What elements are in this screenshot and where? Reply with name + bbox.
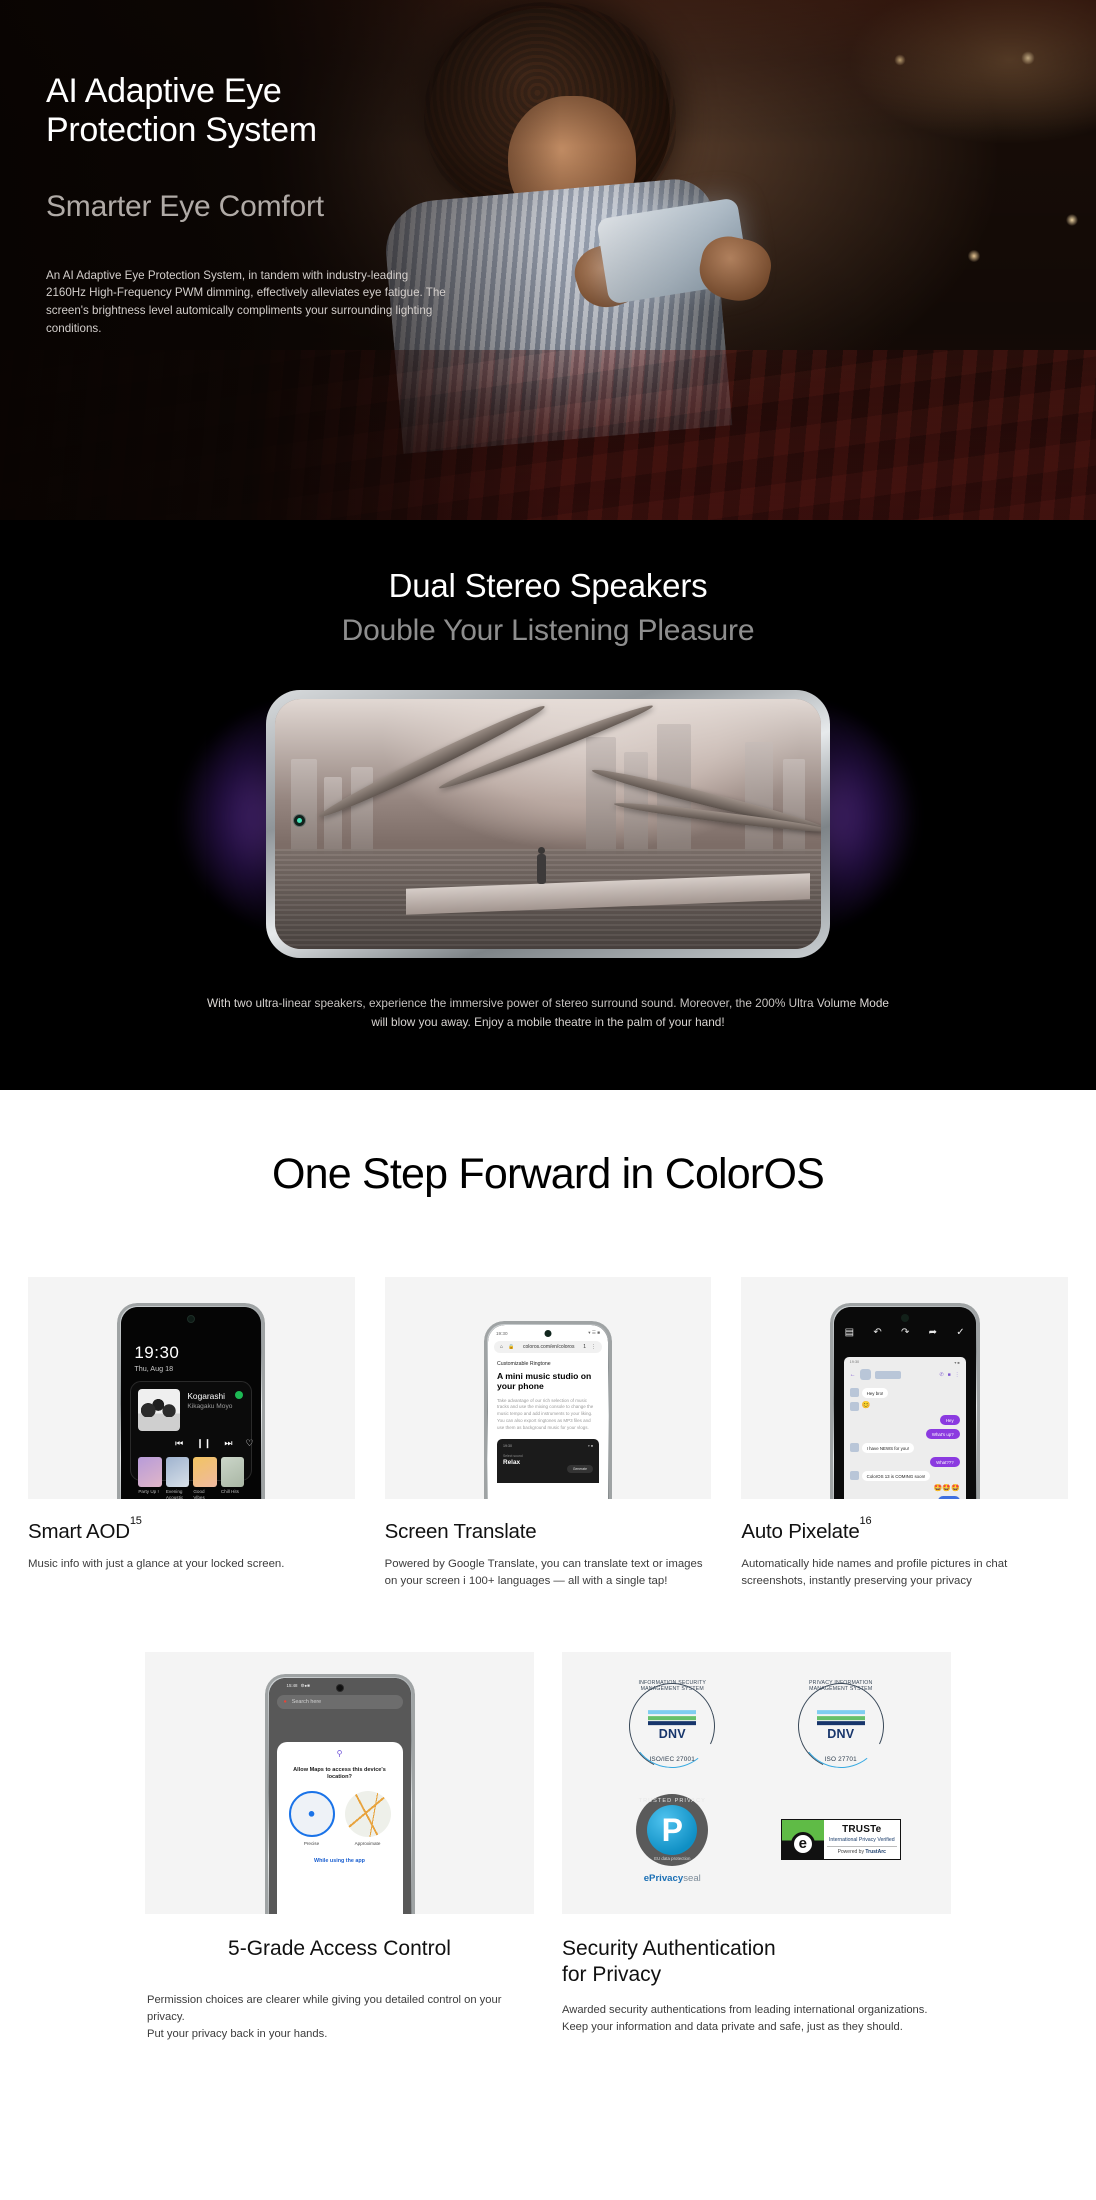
redo-icon[interactable]: ↷ — [901, 1327, 909, 1338]
option-precise[interactable]: ● Precise — [289, 1791, 335, 1846]
permission-dialog[interactable]: ⚲ Allow Maps to access this device's loc… — [277, 1742, 403, 1914]
phone-display: ▤ ↶ ↷ ➦ ✓ 19:30 ▾ ■ — [834, 1307, 976, 1499]
status-icons: ⚙●■ — [301, 1683, 310, 1689]
video-call-icon[interactable]: ■ — [948, 1372, 951, 1378]
smart-aod-media: 19:30 Thu, Aug 18 Kogarashi Kikagaku Moy… — [28, 1277, 355, 1499]
auto-pixelate-media: ▤ ↶ ↷ ➦ ✓ 19:30 ▾ ■ — [741, 1277, 1068, 1499]
dual-stereo-speakers-section: Dual Stereo Speakers Double Your Listeni… — [0, 520, 1096, 1090]
embedded-label: Select sound — [503, 1454, 593, 1458]
playback-controls[interactable]: ⏮ ❙❙ ⏭ ♡ — [138, 1438, 244, 1449]
game-building — [351, 767, 373, 855]
hero-title-line-2: Protection System — [46, 111, 317, 149]
message-bubble: I have NEWS for you! — [862, 1443, 914, 1453]
truste-powered-by: Powered by TrustArc — [827, 1846, 897, 1855]
lock-icon: 🔒 — [508, 1344, 514, 1350]
pixelated-avatar — [860, 1369, 871, 1380]
maps-permission-phone-mockup: 15:48 ⚙●■ ● Search here ⚲ Allow Maps to … — [265, 1674, 415, 1914]
badge-dnv-iso27001: INFORMATION SECURITY MANAGEMENT SYSTEM D… — [626, 1683, 718, 1769]
message-emoji: 😊 — [862, 1402, 871, 1409]
page-paragraph: Take advantage of our rich selection of … — [497, 1398, 599, 1432]
punch-hole-camera-icon — [187, 1315, 195, 1323]
smart-aod-phone-mockup: 19:30 Thu, Aug 18 Kogarashi Kikagaku Moy… — [117, 1303, 265, 1499]
game-building — [291, 759, 317, 854]
pause-icon[interactable]: ❙❙ — [196, 1438, 211, 1449]
page-headline: A mini music studio on your phone — [497, 1371, 599, 1392]
page-kicker: Customizable Ringtone — [497, 1361, 599, 1367]
pixelated-contact-name — [875, 1371, 901, 1379]
playlist-tiles[interactable]: Party Up ! Evening Acoustic Good Vibes — [138, 1457, 244, 1499]
phone-display: 15:48 ⚙●■ ● Search here ⚲ Allow Maps to … — [269, 1678, 411, 1914]
punch-hole-camera-icon — [336, 1684, 344, 1692]
permission-question: Allow Maps to access this device's locat… — [285, 1767, 395, 1782]
feature-card-auto-pixelate[interactable]: ▤ ↶ ↷ ➦ ✓ 19:30 ▾ ■ — [741, 1277, 1068, 1590]
dnv-standard: ISO 27701 — [798, 1756, 884, 1763]
message-bubble: ColorOS 13 is COMING soon! — [862, 1471, 931, 1481]
message-bubble: Hey bro! — [862, 1388, 889, 1398]
dnv-ring-text: PRIVACY INFORMATION MANAGEMENT SYSTEM — [798, 1680, 884, 1692]
playlist-label: Chill Hits — [221, 1489, 245, 1495]
heart-icon[interactable]: ♡ — [245, 1438, 253, 1449]
speakers-title: Dual Stereo Speakers — [0, 520, 1096, 605]
panel-security-authentication[interactable]: INFORMATION SECURITY MANAGEMENT SYSTEM D… — [562, 1652, 951, 2043]
more-options-icon[interactable]: ⋮ — [591, 1344, 596, 1350]
dnv-ring: PRIVACY INFORMATION MANAGEMENT SYSTEM DN… — [798, 1683, 884, 1769]
undo-icon[interactable]: ↶ — [873, 1327, 881, 1338]
screen-translate-media: 19:30 ▾ ☰ ■ ⌂ 🔒 coloros.com/en/coloros 1… — [385, 1277, 712, 1499]
maps-search-bar[interactable]: ● Search here — [277, 1695, 403, 1709]
maps-screen: 15:48 ⚙●■ ● Search here ⚲ Allow Maps to … — [269, 1678, 411, 1914]
speakers-subtitle: Double Your Listening Pleasure — [0, 614, 1096, 648]
dnv-ring: INFORMATION SECURITY MANAGEMENT SYSTEM D… — [629, 1683, 715, 1769]
badge-truste: e TRUSTe International Privacy Verified … — [781, 1819, 901, 1860]
hero-title-line-1: AI Adaptive Eye — [46, 72, 282, 110]
truste-subtitle: International Privacy Verified — [827, 1837, 897, 1843]
eprivacy-caption-bold: ePrivacy — [644, 1873, 683, 1884]
status-time: 19:30 — [496, 1331, 508, 1336]
browser-screen: 19:30 ▾ ☰ ■ ⌂ 🔒 coloros.com/en/coloros 1… — [488, 1325, 608, 1499]
truste-text-block: TRUSTe International Privacy Verified Po… — [824, 1820, 900, 1859]
embedded-status: 19:30▾ ■ — [503, 1444, 593, 1448]
panel-heading: 5-Grade Access Control — [145, 1936, 534, 1962]
punch-hole-camera-icon — [901, 1314, 909, 1322]
crop-icon[interactable]: ▤ — [845, 1327, 854, 1338]
dnv-bars-icon — [817, 1710, 865, 1725]
eprivacy-ring: TRUSTED PRIVACY P EU data protection — [636, 1794, 708, 1866]
chat-message-row: 🤩🤩🤩 — [850, 1485, 960, 1492]
back-icon[interactable]: ← — [850, 1372, 856, 1378]
card-heading: Auto Pixelate16 — [741, 1520, 1068, 1544]
album-art — [138, 1389, 180, 1431]
status-icons: ▾ ☰ ■ — [588, 1330, 600, 1336]
hero-copy-block: AI Adaptive Eye Protection System Smarte… — [46, 72, 516, 337]
address-url[interactable]: coloros.com/en/coloros — [519, 1344, 578, 1350]
page-content: Customizable Ringtone A mini music studi… — [488, 1353, 608, 1431]
punch-hole-camera-icon — [545, 1330, 552, 1337]
phone-display: 19:30 ▾ ☰ ■ ⌂ 🔒 coloros.com/en/coloros 1… — [488, 1325, 608, 1499]
chat-message-row: ColorOS 13 is COMING soon! — [850, 1471, 960, 1481]
dnv-core: DNV — [648, 1710, 696, 1741]
hero-subtitle: Smarter Eye Comfort — [46, 189, 516, 225]
eprivacy-caption-rest: seal — [683, 1873, 701, 1884]
approximate-location-preview — [345, 1791, 391, 1837]
chat-messages: Hey bro! 😊 Hey — [844, 1384, 966, 1499]
card-footnote-marker: 15 — [130, 1515, 142, 1527]
speakers-description: With two ultra-linear speakers, experien… — [198, 994, 898, 1032]
aod-music-widget[interactable]: Kogarashi Kikagaku Moyo ⏮ ❙❙ ⏭ ♡ — [130, 1381, 252, 1481]
next-track-icon[interactable]: ⏭ — [224, 1438, 232, 1449]
eprivacy-caption: ePrivacyseal — [636, 1873, 708, 1884]
eprivacy-bottom-text: EU data protection — [636, 1856, 708, 1861]
panel-description: Awarded security authentications from le… — [562, 2002, 951, 2036]
landscape-phone-mockup — [266, 690, 830, 958]
playlist-thumb — [138, 1457, 162, 1487]
access-control-media: 15:48 ⚙●■ ● Search here ⚲ Allow Maps to … — [145, 1652, 534, 1914]
truste-name: TRUSTe — [827, 1824, 897, 1835]
card-heading: Smart AOD15 — [28, 1520, 355, 1544]
game-building — [586, 737, 616, 855]
dnv-wordmark: DNV — [817, 1727, 865, 1741]
message-bubble: Hey — [940, 1415, 960, 1425]
panel-heading-line-1: Security Authentication — [562, 1937, 776, 1960]
share-icon[interactable]: ➦ — [929, 1327, 937, 1338]
home-icon[interactable]: ⌂ — [500, 1344, 503, 1350]
editor-toolbar[interactable]: ▤ ↶ ↷ ➦ ✓ — [834, 1307, 976, 1338]
playlist-thumb — [221, 1457, 245, 1487]
coloros-privacy-grid: 15:48 ⚙●■ ● Search here ⚲ Allow Maps to … — [0, 1652, 1096, 2043]
tab-count-icon[interactable]: 1 — [583, 1344, 586, 1350]
playlist-thumb — [166, 1457, 190, 1487]
dnv-ring-text: INFORMATION SECURITY MANAGEMENT SYSTEM — [629, 1680, 715, 1692]
message-bubble: Wow — [938, 1496, 960, 1499]
pixelated-avatar — [850, 1443, 859, 1452]
eye-protection-hero-section: AI Adaptive Eye Protection System Smarte… — [0, 0, 1096, 520]
pixelated-avatar — [850, 1388, 859, 1397]
map-roads — [345, 1791, 391, 1837]
chat-header: ← ✆ ■ ⋮ — [844, 1365, 966, 1384]
speakers-device-stage — [0, 672, 1096, 972]
playlist-label: Party Up ! — [138, 1489, 162, 1495]
message-bubble: What's up? — [926, 1429, 960, 1439]
playlist-thumb — [193, 1457, 217, 1487]
feature-card-screen-translate[interactable]: 19:30 ▾ ☰ ■ ⌂ 🔒 coloros.com/en/coloros 1… — [385, 1277, 712, 1590]
playlist-tile[interactable]: Good Vibes — [193, 1457, 217, 1499]
truste-mark: e — [782, 1820, 824, 1859]
option-label: Precise — [289, 1841, 335, 1846]
game-character — [537, 854, 546, 884]
map-pin-icon: ● — [308, 1805, 316, 1820]
card-description: Powered by Google Translate, you can tra… — [385, 1556, 712, 1590]
card-description: Music info with just a glance at your lo… — [28, 1556, 355, 1573]
panel-access-control[interactable]: 15:48 ⚙●■ ● Search here ⚲ Allow Maps to … — [145, 1652, 534, 2043]
playlist-tile[interactable]: Evening Acoustic — [166, 1457, 190, 1499]
playlist-label: Evening Acoustic — [166, 1489, 190, 1499]
call-icon[interactable]: ✆ — [939, 1372, 943, 1378]
chat-status-icons: ▾ ■ — [954, 1360, 959, 1365]
hero-title: AI Adaptive Eye Protection System — [46, 72, 516, 151]
maps-pin-icon: ● — [284, 1699, 287, 1705]
chat-message-row: Hey — [850, 1415, 960, 1425]
while-using-app-button[interactable]: While using the app — [285, 1858, 395, 1864]
dnv-wordmark: DNV — [648, 1727, 696, 1741]
panel-heading: Security Authentication for Privacy — [562, 1936, 951, 1989]
chat-status-bar: 19:30 ▾ ■ — [844, 1357, 966, 1365]
dnv-core: DNV — [817, 1710, 865, 1741]
playlist-tile[interactable]: Chill Hits — [221, 1457, 245, 1499]
browser-address-bar[interactable]: ⌂ 🔒 coloros.com/en/coloros 1 ⋮ — [494, 1341, 602, 1353]
chat-message-row: Wow — [850, 1496, 960, 1499]
card-heading-text: Auto Pixelate — [741, 1520, 859, 1543]
front-camera-icon — [293, 814, 306, 827]
precise-location-preview: ● — [289, 1791, 335, 1837]
eprivacy-p-icon: P — [647, 1805, 697, 1855]
pixelated-avatar — [850, 1471, 859, 1480]
chat-message-row: Hey bro! — [850, 1388, 960, 1398]
dnv-bars-icon — [648, 1710, 696, 1725]
option-approximate[interactable]: Approximate — [345, 1791, 391, 1846]
track-artist: Kikagaku Moyo — [187, 1403, 244, 1410]
embedded-player-card[interactable]: 19:30▾ ■ Select sound Relax Generate — [497, 1439, 599, 1483]
certification-badge-grid: INFORMATION SECURITY MANAGEMENT SYSTEM D… — [562, 1652, 951, 1914]
truste-e-icon: e — [791, 1832, 815, 1856]
card-description: Automatically hide names and profile pic… — [741, 1556, 1068, 1590]
chat-menu-icon[interactable]: ⋮ — [955, 1372, 960, 1378]
eprivacy-top-text: TRUSTED PRIVACY — [636, 1798, 708, 1804]
coloros-title: One Step Forward in ColorOS — [0, 1150, 1096, 1199]
permission-options[interactable]: ● Precise Approximate — [285, 1791, 395, 1846]
playlist-tile[interactable]: Party Up ! — [138, 1457, 162, 1499]
truste-powered-brand: TrustArc — [865, 1849, 886, 1855]
message-emoji: 🤩🤩🤩 — [934, 1485, 960, 1492]
feature-card-smart-aod[interactable]: 19:30 Thu, Aug 18 Kogarashi Kikagaku Moy… — [28, 1277, 355, 1590]
chat-status-time: 19:30 — [850, 1360, 860, 1365]
truste-powered-prefix: Powered by — [838, 1849, 866, 1855]
chat-message-row: What's up? — [850, 1429, 960, 1439]
always-on-display: 19:30 Thu, Aug 18 Kogarashi Kikagaku Moy… — [121, 1307, 261, 1499]
chat-screenshot: 19:30 ▾ ■ ← ✆ ■ ⋮ — [844, 1357, 966, 1499]
dnv-standard: ISO/IEC 27001 — [629, 1756, 715, 1763]
message-bubble: What??? — [930, 1457, 960, 1467]
pixelated-avatar — [850, 1402, 859, 1411]
auto-pixelate-phone-mockup: ▤ ↶ ↷ ➦ ✓ 19:30 ▾ ■ — [830, 1303, 980, 1499]
check-icon[interactable]: ✓ — [956, 1327, 964, 1338]
game-building — [745, 742, 773, 855]
panel-description: Permission choices are clearer while giv… — [145, 1992, 534, 2042]
phone-display: 19:30 Thu, Aug 18 Kogarashi Kikagaku Moy… — [121, 1307, 261, 1499]
badge-dnv-iso27701: PRIVACY INFORMATION MANAGEMENT SYSTEM DN… — [795, 1683, 887, 1769]
coloros-section: One Step Forward in ColorOS 19:30 Thu, A… — [0, 1090, 1096, 2082]
playlist-label: Good Vibes — [193, 1489, 217, 1499]
screen-translate-phone-mockup: 19:30 ▾ ☰ ■ ⌂ 🔒 coloros.com/en/coloros 1… — [484, 1321, 612, 1499]
game-building — [783, 759, 805, 854]
card-heading: Screen Translate — [385, 1520, 712, 1544]
previous-track-icon[interactable]: ⏮ — [175, 1438, 183, 1449]
card-heading-text: Screen Translate — [385, 1520, 537, 1543]
phone-screen-gameplay — [275, 699, 821, 949]
coloros-feature-grid: 19:30 Thu, Aug 18 Kogarashi Kikagaku Moy… — [0, 1277, 1096, 1590]
panel-heading-line-2: for Privacy — [562, 1963, 661, 1986]
aod-date: Thu, Aug 18 — [134, 1364, 173, 1373]
chat-message-row: I have NEWS for you! — [850, 1443, 960, 1453]
generate-button[interactable]: Generate — [567, 1465, 593, 1473]
aod-clock: 19:30 — [134, 1343, 179, 1363]
search-placeholder[interactable]: Search here — [292, 1699, 321, 1705]
badge-eprivacyseal: TRUSTED PRIVACY P EU data protection ePr… — [636, 1794, 708, 1884]
option-label: Approximate — [345, 1841, 391, 1846]
hero-description: An AI Adaptive Eye Protection System, in… — [46, 267, 446, 337]
status-time: 15:48 — [287, 1683, 298, 1688]
screenshot-editor: ▤ ↶ ↷ ➦ ✓ 19:30 ▾ ■ — [834, 1307, 976, 1499]
card-heading-text: Smart AOD — [28, 1520, 130, 1543]
card-footnote-marker: 16 — [860, 1515, 872, 1527]
chat-message-row: What??? — [850, 1457, 960, 1467]
chat-message-row: 😊 — [850, 1402, 960, 1411]
security-badges-media: INFORMATION SECURITY MANAGEMENT SYSTEM D… — [562, 1652, 951, 1914]
location-pin-icon: ⚲ — [285, 1749, 395, 1758]
